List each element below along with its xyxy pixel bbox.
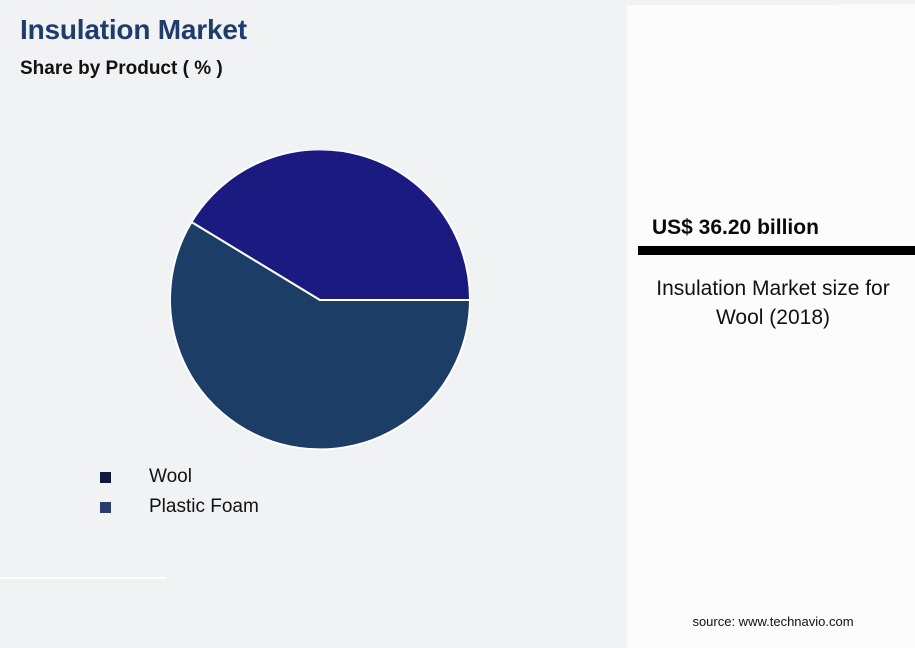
legend: Wool Plastic Foam — [100, 462, 500, 522]
chart-subtitle: Share by Product ( % ) — [20, 58, 223, 80]
legend-item-wool: Wool — [100, 462, 500, 492]
chart-panel: Insulation Market Share by Product ( % )… — [0, 0, 627, 648]
kpi-value: US$ 36.20 billion — [652, 216, 915, 240]
legend-item-plastic-foam: Plastic Foam — [100, 492, 500, 522]
kpi-divider — [638, 246, 915, 255]
legend-swatch-icon — [100, 472, 111, 483]
legend-label: Plastic Foam — [149, 496, 259, 518]
callout-panel-notch — [627, 0, 839, 5]
baseline-divider — [0, 577, 166, 579]
source-label: source: www.technavio.com — [647, 614, 899, 629]
chart-page: Insulation Market Share by Product ( % )… — [0, 0, 915, 648]
pie-chart — [170, 150, 470, 450]
legend-swatch-icon — [100, 502, 111, 513]
kpi-caption: Insulation Market size for Wool (2018) — [647, 274, 899, 332]
page-title: Insulation Market — [20, 14, 247, 46]
legend-label: Wool — [149, 466, 192, 488]
